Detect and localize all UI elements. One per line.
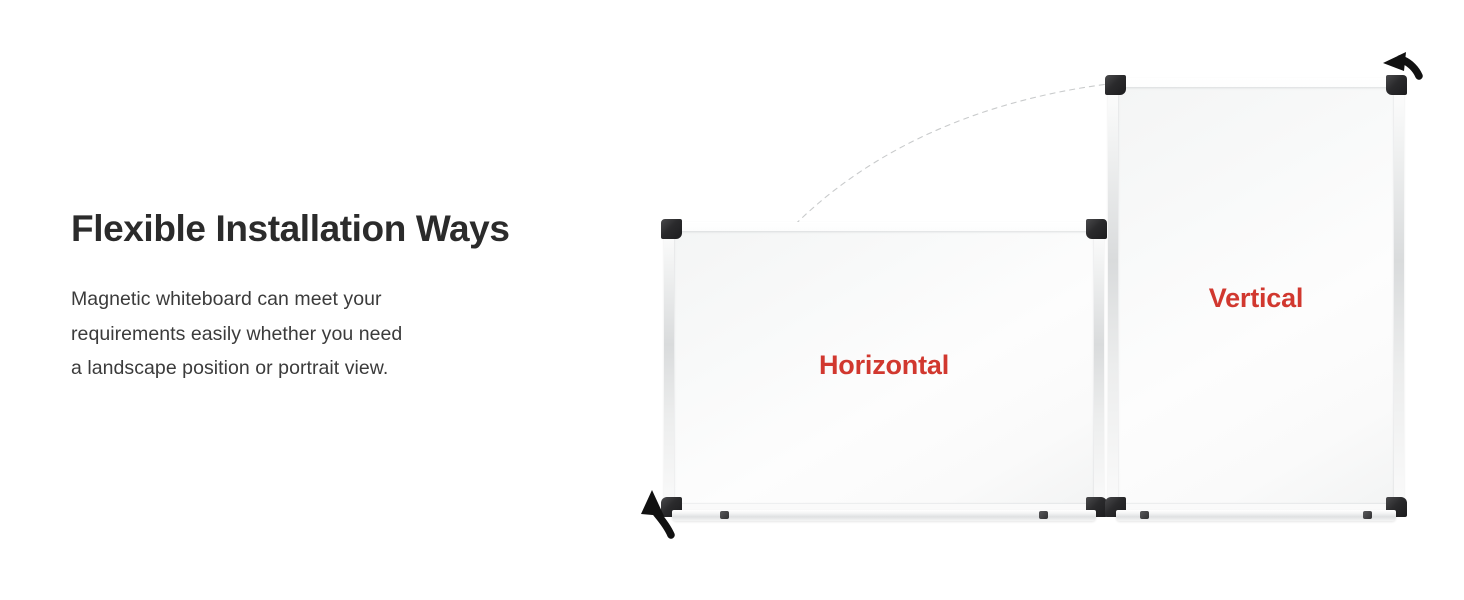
board-label-vertical: Vertical [1108,283,1404,314]
slide-canvas: Flexible Installation Ways Magnetic whit… [0,0,1464,600]
corner-cap-top-left-icon [661,219,682,239]
whiteboard-vertical[interactable]: Vertical [1108,78,1404,514]
description-line-1: Magnetic whiteboard can meet your [71,282,591,317]
tray-stop-left-icon [1140,511,1149,519]
description-line-3: a landscape position or portrait view. [71,351,591,386]
tray-stop-right-icon [1039,511,1048,519]
corner-cap-top-left-icon [1105,75,1126,95]
pen-tray-horizontal [672,510,1096,521]
description-paragraph: Magnetic whiteboard can meet your requir… [71,252,591,386]
tray-stop-left-icon [720,511,729,519]
board-label-horizontal: Horizontal [664,350,1104,381]
pen-tray-vertical [1116,510,1396,521]
corner-cap-top-right-icon [1386,75,1407,95]
corner-cap-top-right-icon [1086,219,1107,239]
copy-block: Flexible Installation Ways Magnetic whit… [71,206,591,386]
page-title: Flexible Installation Ways [71,206,591,252]
description-line-2: requirements easily whether you need [71,317,591,352]
whiteboard-horizontal[interactable]: Horizontal [664,222,1104,514]
tray-stop-right-icon [1363,511,1372,519]
rotation-arrow-top-right-icon [1383,52,1419,76]
